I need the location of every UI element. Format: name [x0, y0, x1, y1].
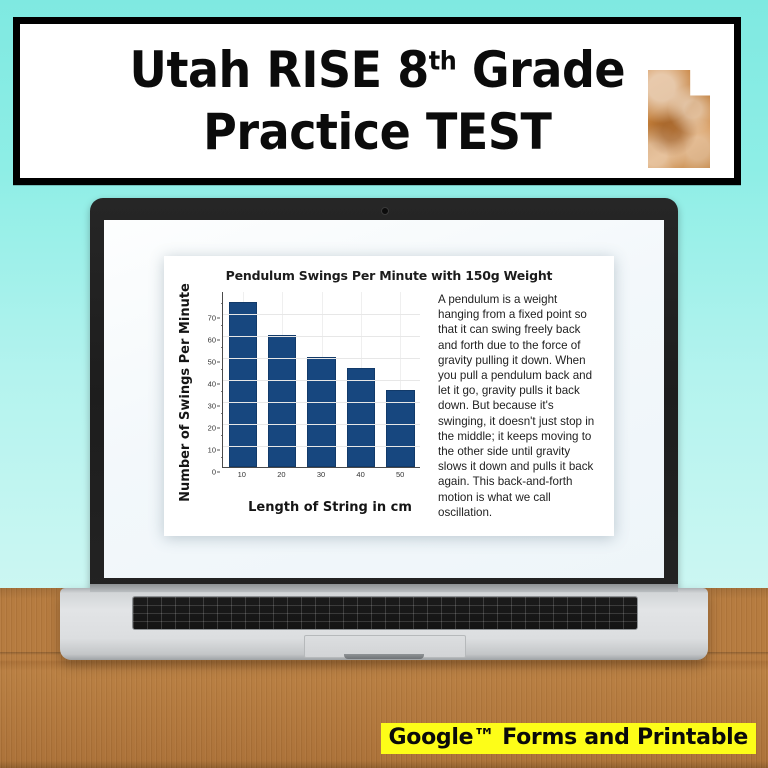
chart-gridline	[223, 446, 420, 447]
chart-x-tick-label: 30	[301, 470, 341, 479]
page-title-line-1: Utah RISE 8th Grade	[129, 39, 625, 101]
chart-x-tick-label: 50	[380, 470, 420, 479]
chart-gridline	[223, 314, 420, 315]
chart-plot-area-wrapper: 010203040506070 1020304050 Length of Str…	[198, 292, 424, 492]
chart-y-tick-label: 10	[208, 446, 216, 455]
header-banner: Utah RISE 8th Grade Practice TEST	[13, 17, 741, 185]
laptop-mockup: Pendulum Swings Per Minute with 150g Wei…	[60, 198, 708, 678]
chart-y-axis-ticks: 010203040506070	[198, 292, 220, 468]
chart-x-axis-label: Length of String in cm	[212, 500, 448, 515]
chart-bar	[229, 302, 257, 467]
google-forms-badge: Google™ Forms and Printable	[381, 723, 757, 754]
chart-y-tick-label: 50	[208, 358, 216, 367]
laptop-hinge	[90, 584, 678, 592]
laptop-lid: Pendulum Swings Per Minute with 150g Wei…	[90, 198, 678, 593]
chart-bar	[347, 368, 375, 467]
chart-x-axis-ticks: 1020304050	[222, 470, 420, 479]
chart-gridline	[223, 424, 420, 425]
bar-chart: Number of Swings Per Minute 010203040506…	[176, 286, 426, 530]
chart-plot-area	[222, 292, 420, 468]
chart-y-tick-label: 40	[208, 380, 216, 389]
chart-y-axis-label-text: Number of Swings Per Minute	[178, 283, 193, 502]
chart-x-tick-label: 40	[341, 470, 381, 479]
chart-y-tick-label: 30	[208, 402, 216, 411]
webcam-icon	[381, 207, 389, 215]
chart-bar	[268, 335, 296, 467]
page-title-line-1-post: Grade	[456, 41, 625, 99]
chart-y-tick-label: 60	[208, 336, 216, 345]
chart-gridline	[223, 358, 420, 359]
chart-x-tick-label: 10	[222, 470, 262, 479]
header-banner-inner: Utah RISE 8th Grade Practice TEST	[20, 24, 734, 178]
chart-y-tick-label: 70	[208, 314, 216, 323]
laptop-front-lip	[344, 654, 424, 659]
chart-gridline	[223, 336, 420, 337]
laptop-base	[60, 588, 708, 660]
chart-gridline	[223, 402, 420, 403]
page-title-line-1-pre: Utah RISE 8	[129, 41, 428, 99]
slide-body: Number of Swings Per Minute 010203040506…	[176, 286, 602, 530]
chart-y-tick-label: 20	[208, 424, 216, 433]
laptop-keyboard	[132, 596, 638, 630]
chart-y-axis-label: Number of Swings Per Minute	[174, 286, 196, 498]
pendulum-description-text: A pendulum is a weight hanging from a fi…	[426, 286, 602, 530]
laptop-screen: Pendulum Swings Per Minute with 150g Wei…	[104, 220, 664, 578]
chart-title: Pendulum Swings Per Minute with 150g Wei…	[176, 268, 602, 283]
page-title-ordinal-suffix: th	[428, 46, 456, 76]
utah-state-map-icon	[648, 70, 710, 168]
presentation-slide: Pendulum Swings Per Minute with 150g Wei…	[164, 256, 614, 536]
chart-y-tick-label: 0	[212, 468, 216, 477]
chart-gridline	[223, 380, 420, 381]
chart-x-tick-label: 20	[262, 470, 302, 479]
page-title-line-2: Practice TEST	[203, 101, 551, 163]
chart-bar	[307, 357, 335, 467]
